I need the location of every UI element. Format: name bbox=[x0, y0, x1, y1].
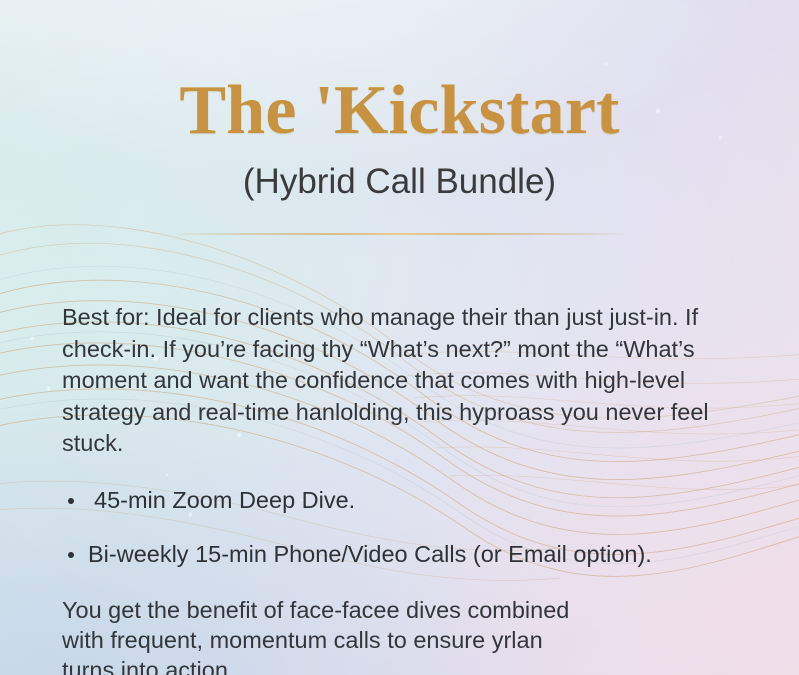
list-item: Bi-weekly 15-min Phone/Video Calls (or E… bbox=[62, 539, 722, 569]
list-item: 45-min Zoom Deep Dive. bbox=[62, 485, 722, 515]
closing-paragraph: You get the benefit of face-facee dives … bbox=[62, 595, 722, 675]
slide-canvas: The 'Kickstart (Hybrid Call Bundle) Best… bbox=[0, 0, 799, 675]
slide-title: The 'Kickstart bbox=[0, 76, 799, 146]
slide-body: Best for: Ideal for clients who manage t… bbox=[62, 302, 722, 675]
feature-bullet-list: 45-min Zoom Deep Dive. Bi-weekly 15-min … bbox=[62, 485, 722, 569]
slide-subtitle: (Hybrid Call Bundle) bbox=[0, 163, 799, 202]
slide-content: The 'Kickstart (Hybrid Call Bundle) Best… bbox=[0, 0, 799, 675]
gold-divider bbox=[168, 233, 631, 235]
intro-paragraph: Best for: Ideal for clients who manage t… bbox=[62, 302, 722, 460]
